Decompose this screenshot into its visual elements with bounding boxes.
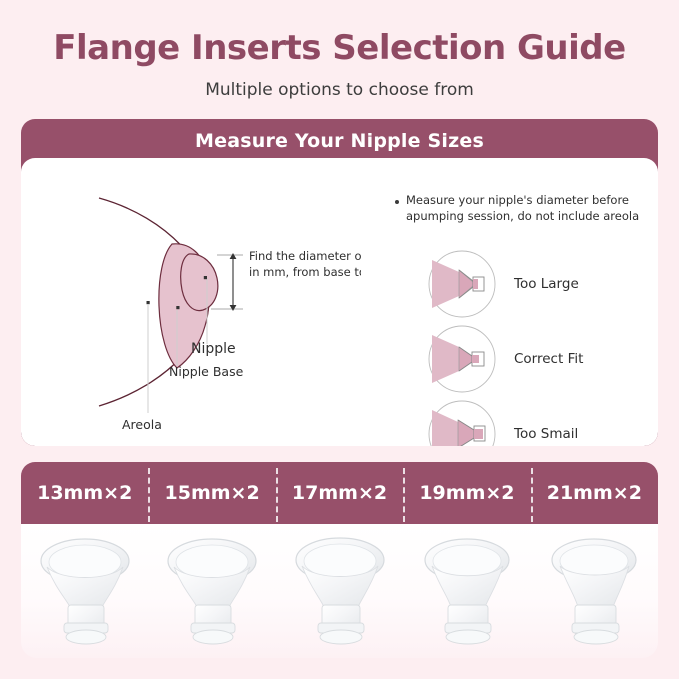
fit-guidance-column: Measure your nipple's diameter before ap…	[391, 158, 658, 446]
page-title: Flange Inserts Selection Guide	[0, 28, 679, 68]
breast-measurement-diagram: Find the diameter of your nipple in mm, …	[21, 158, 361, 446]
measure-card: Measure Your Nipple Sizes	[21, 119, 658, 446]
fit-example-list: Too Large	[391, 246, 658, 446]
size-label-17mm: 17mm×2	[292, 482, 387, 504]
fit-label-too-small: Too Smail	[514, 426, 578, 442]
fit-label-correct: Correct Fit	[514, 351, 583, 367]
product-cell-17mm[interactable]	[276, 524, 403, 658]
size-cell-21mm[interactable]: 21mm×2	[531, 462, 658, 524]
flange-insert-image-17mm	[285, 527, 395, 655]
nipple-in-funnel	[459, 270, 473, 298]
areola-point-dot	[147, 301, 150, 304]
size-cell-17mm[interactable]: 17mm×2	[276, 462, 403, 524]
measure-bullet: Measure your nipple's diameter before ap…	[395, 192, 657, 224]
flange-insert-image-19mm	[412, 527, 522, 655]
label-nipple: Nipple	[191, 341, 236, 357]
flange-base	[66, 630, 106, 644]
dimension-arrow-head-top	[230, 253, 237, 259]
size-label-15mm: 15mm×2	[165, 482, 260, 504]
fit-diagram-correct	[426, 323, 498, 395]
fit-row-too-small: Too Smail	[391, 396, 658, 446]
product-cell-13mm[interactable]	[21, 524, 148, 658]
label-areola: Areola	[122, 417, 162, 432]
flange-insert-image-21mm	[539, 527, 649, 655]
nipple-point-dot	[204, 276, 207, 279]
tunnel-fill	[474, 429, 483, 439]
product-cell-21mm[interactable]	[531, 524, 658, 658]
measure-bullet-text: Measure your nipple's diameter before ap…	[406, 192, 657, 224]
flange-base	[193, 630, 233, 644]
size-label-13mm: 13mm×2	[37, 482, 132, 504]
nipple-shape	[181, 254, 218, 311]
measure-card-header-label: Measure Your Nipple Sizes	[195, 130, 484, 152]
size-header-bar: 13mm×2 15mm×2 17mm×2 19mm×2 21mm×2	[21, 462, 658, 524]
fit-label-too-large: Too Large	[514, 276, 579, 292]
measure-card-header: Measure Your Nipple Sizes	[21, 119, 658, 162]
measure-card-body: Find the diameter of your nipple in mm, …	[21, 158, 658, 446]
tunnel-fill	[473, 279, 478, 289]
size-cell-13mm[interactable]: 13mm×2	[21, 462, 148, 524]
dimension-note-line1: Find the diameter of your nipple	[249, 249, 361, 263]
fit-row-correct: Correct Fit	[391, 321, 658, 396]
tunnel-fill	[472, 355, 479, 363]
size-label-19mm: 19mm×2	[419, 482, 514, 504]
dimension-note-line2: in mm, from base to base	[249, 265, 361, 279]
breast-tissue-wedge	[432, 335, 459, 383]
nipple-leader-dot	[176, 306, 179, 309]
flange-base	[446, 630, 490, 644]
size-label-21mm: 21mm×2	[547, 482, 642, 504]
nipple-in-funnel	[459, 347, 472, 371]
breast-tissue-wedge	[432, 410, 458, 447]
breast-tissue-wedge	[432, 260, 459, 308]
product-cell-19mm[interactable]	[403, 524, 530, 658]
page-subtitle: Multiple options to choose from	[0, 80, 679, 100]
size-cell-15mm[interactable]: 15mm×2	[148, 462, 275, 524]
fit-diagram-too-small	[426, 398, 498, 447]
dimension-arrow-head-bottom	[230, 305, 237, 311]
product-cell-15mm[interactable]	[148, 524, 275, 658]
fit-row-too-large: Too Large	[391, 246, 658, 321]
bullet-dot-icon	[395, 200, 399, 204]
fit-diagram-too-large	[426, 248, 498, 320]
label-nipple-base: Nipple Base	[169, 364, 244, 379]
flange-base	[574, 630, 618, 644]
flange-insert-image-13mm	[30, 527, 140, 655]
flange-base	[320, 630, 362, 644]
size-cell-19mm[interactable]: 19mm×2	[403, 462, 530, 524]
infographic-page: Flange Inserts Selection Guide Multiple …	[0, 0, 679, 679]
product-image-strip	[21, 524, 658, 658]
flange-insert-image-15mm	[157, 527, 267, 655]
